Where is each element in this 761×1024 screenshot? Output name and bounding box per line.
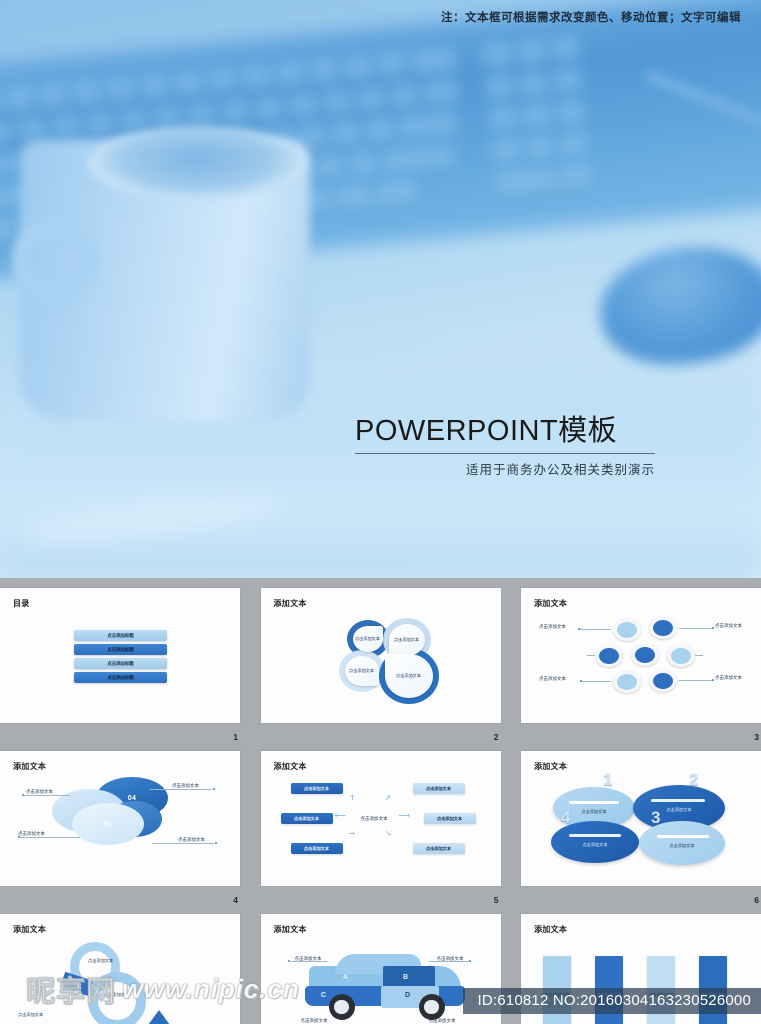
- car-label[interactable]: 点击添加文本: [437, 956, 464, 962]
- slide-page-number: 4: [0, 886, 240, 914]
- slide-page-number: 3: [521, 723, 761, 751]
- honeycomb-cell[interactable]: [667, 644, 695, 667]
- computer-mouse-blur: [593, 236, 761, 374]
- slide-thumb-5[interactable]: 添加文本 点击添加文本 点击添加文本 点击添加文本 点击添加文本 点击添加文本 …: [261, 751, 501, 886]
- slide-canvas: 点击添加文本 点击添加文本 点击添加文本 点击添加文本 1 2 3 4: [521, 751, 761, 886]
- slide-canvas: 点击添加文本 点击添加文本 点击添加文本: [0, 914, 240, 1024]
- car-puzzle-piece[interactable]: D: [401, 988, 415, 1002]
- honeycomb-cell[interactable]: [613, 618, 641, 641]
- slide-thumb-7[interactable]: 添加文本 点击添加文本 点击添加文本 点击添加文本: [0, 914, 240, 1024]
- toc-bar[interactable]: 点击添加标题: [74, 658, 167, 669]
- slide-thumb-1[interactable]: 目录 点击添加标题 点击添加标题 点击添加标题 点击添加标题: [0, 588, 240, 723]
- editing-note: 注：文本框可根据需求改变颜色、移动位置；文字可编辑: [441, 9, 741, 25]
- slide-thumb-2[interactable]: 添加文本 点击添加文本 点击添加文本 点击添加文本 点击添加文本: [261, 588, 501, 723]
- honeycomb-cell[interactable]: [649, 616, 677, 639]
- ellipse-number: 4: [561, 809, 570, 826]
- petal[interactable]: 点击添加文本: [353, 626, 383, 652]
- slide-thumb-3[interactable]: 添加文本 点击添加文本 点击添加文本: [521, 588, 761, 723]
- slide-canvas: 点击添加文本 点击添加文本 点击添加文本 点击添加文本: [521, 588, 761, 723]
- ellipse-label: 点击添加文本: [551, 842, 639, 848]
- hero-title-block: POWERPOINT模板 适用于商务办公及相关类别演示: [355, 415, 685, 478]
- slide-canvas: 点击添加文本 点击添加文本 点击添加文本 点击添加文本: [261, 588, 501, 723]
- title-divider: [355, 453, 655, 454]
- ellipse-item[interactable]: 点击添加文本: [639, 821, 725, 865]
- honeycomb-cell[interactable]: [595, 644, 623, 667]
- car-wheel-rear: [419, 994, 445, 1020]
- car-label[interactable]: 点击添加文本: [295, 956, 322, 962]
- image-id-banner: ID:610812 NO:20160304163230526000: [463, 988, 761, 1014]
- ellipse-number: 1: [603, 771, 612, 788]
- cycle-label[interactable]: 点击添加文本: [88, 958, 113, 964]
- petal[interactable]: 点击添加文本: [385, 654, 433, 698]
- honeycomb-label[interactable]: 点击添加文本: [539, 624, 566, 630]
- ellipse-label: 点击添加文本: [639, 843, 725, 849]
- bubble-label[interactable]: 点击添加文本: [26, 789, 53, 795]
- slide-thumb-4[interactable]: 添加文本 04 03 02 01 点击添加文本 点击添加文本 点击添加文本 点击…: [0, 751, 240, 886]
- ppt-template-preview-page: 注：文本框可根据需求改变颜色、移动位置；文字可编辑 POWERPOINT模板 适…: [0, 0, 761, 1024]
- radial-box[interactable]: 点击添加文本: [413, 783, 465, 794]
- speech-bubble[interactable]: 01: [72, 803, 144, 845]
- cycle-label[interactable]: 点击添加文本: [18, 1012, 43, 1018]
- ellipse-number: 3: [651, 809, 660, 826]
- radial-box[interactable]: 点击添加文本: [413, 843, 465, 854]
- hero-cover-slide: 注：文本框可根据需求改变颜色、移动位置；文字可编辑 POWERPOINT模板 适…: [0, 0, 761, 578]
- slide-thumbnail-grid: 目录 点击添加标题 点击添加标题 点击添加标题 点击添加标题 添加文本 点击添加…: [0, 578, 761, 1024]
- slide-canvas: 点击添加标题 点击添加标题 点击添加标题 点击添加标题: [0, 588, 240, 723]
- radial-center-label[interactable]: 点击添加文本: [361, 816, 388, 822]
- car-label[interactable]: 点击添加文本: [429, 1018, 456, 1024]
- radial-box[interactable]: 点击添加文本: [291, 783, 343, 794]
- hero-subtitle: 适用于商务办公及相关类别演示: [355, 459, 655, 478]
- cycle-arrow-right: [148, 1010, 170, 1024]
- coffee-mug-rim: [88, 126, 306, 200]
- honeycomb-label[interactable]: 点击添加文本: [539, 676, 566, 682]
- car-puzzle-piece[interactable]: A: [339, 970, 353, 984]
- coffee-mug-handle: [12, 218, 98, 304]
- toc-bar[interactable]: 点击添加标题: [74, 644, 167, 655]
- ellipse-item[interactable]: 点击添加文本: [551, 821, 639, 863]
- bubble-label[interactable]: 点击添加文本: [178, 837, 205, 843]
- honeycomb-cell[interactable]: [631, 643, 659, 666]
- slide-canvas: 点击添加文本 点击添加文本 点击添加文本 点击添加文本 点击添加文本 点击添加文…: [261, 751, 501, 886]
- slide-thumb-6[interactable]: 添加文本 点击添加文本 点击添加文本 点击添加文本 点击添加文本: [521, 751, 761, 886]
- page-title: POWERPOINT模板: [355, 415, 685, 448]
- ellipse-number: 2: [689, 771, 698, 788]
- petal[interactable]: 点击添加文本: [389, 624, 425, 656]
- honeycomb-cell[interactable]: [649, 669, 677, 692]
- slide-page-number: 2: [261, 723, 501, 751]
- honeycomb-label[interactable]: 点击添加文本: [715, 675, 742, 681]
- radial-box[interactable]: 点击添加文本: [291, 843, 343, 854]
- radial-box[interactable]: 点击添加文本: [281, 813, 333, 824]
- hero-background-photo: [0, 0, 761, 578]
- cycle-label[interactable]: 点击添加文本: [104, 992, 129, 998]
- slide-canvas: 04 03 02 01 点击添加文本 点击添加文本 点击添加文本 点击添加文本: [0, 751, 240, 886]
- toc-bar[interactable]: 点击添加标题: [74, 672, 167, 683]
- car-label[interactable]: 点击添加文本: [301, 1018, 328, 1024]
- slide-page-number: 1: [0, 723, 240, 751]
- car-puzzle-piece[interactable]: C: [317, 988, 331, 1002]
- toc-bar[interactable]: 点击添加标题: [74, 630, 167, 641]
- bubble-label[interactable]: 点击添加文本: [18, 831, 45, 837]
- car-wheel-front: [329, 994, 355, 1020]
- honeycomb-cell[interactable]: [613, 670, 641, 693]
- bubble-label[interactable]: 点击添加文本: [172, 783, 199, 789]
- cycle-ring-bottom: [88, 972, 146, 1024]
- car-puzzle-piece[interactable]: B: [399, 970, 413, 984]
- radial-box[interactable]: 点击添加文本: [424, 813, 476, 824]
- slide-page-number: 6: [521, 886, 761, 914]
- ellipse-label: 点击添加文本: [633, 807, 725, 813]
- petal[interactable]: 点击添加文本: [345, 656, 379, 686]
- honeycomb-label[interactable]: 点击添加文本: [715, 623, 742, 629]
- slide-page-number: 5: [261, 886, 501, 914]
